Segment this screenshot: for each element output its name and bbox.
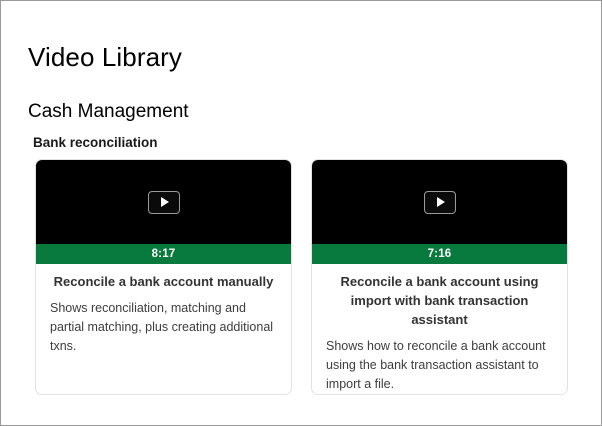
video-card-description: Shows how to reconcile a bank account us… <box>326 337 553 394</box>
video-card-description: Shows reconciliation, matching and parti… <box>50 299 277 356</box>
page-title: Video Library <box>28 43 182 73</box>
video-card-body: Reconcile a bank account manually Shows … <box>36 264 291 394</box>
play-icon[interactable] <box>148 191 180 214</box>
video-library-page: Video Library Cash Management Bank recon… <box>0 0 602 426</box>
video-duration-badge: 7:16 <box>312 244 567 264</box>
video-duration-badge: 8:17 <box>36 244 291 264</box>
play-triangle-glyph <box>437 197 445 207</box>
video-card[interactable]: 8:17 Reconcile a bank account manually S… <box>35 159 292 395</box>
video-card-title: Reconcile a bank account using import wi… <box>326 273 553 330</box>
play-triangle-glyph <box>161 197 169 207</box>
video-card-body: Reconcile a bank account using import wi… <box>312 264 567 395</box>
video-thumbnail[interactable] <box>312 160 567 244</box>
subsection-title-bank-reconciliation: Bank reconciliation <box>33 135 158 151</box>
video-card[interactable]: 7:16 Reconcile a bank account using impo… <box>311 159 568 395</box>
section-title-cash-management: Cash Management <box>28 101 189 123</box>
play-icon[interactable] <box>424 191 456 214</box>
video-card-list: 8:17 Reconcile a bank account manually S… <box>35 159 568 395</box>
video-thumbnail[interactable] <box>36 160 291 244</box>
video-card-title: Reconcile a bank account manually <box>50 273 277 292</box>
